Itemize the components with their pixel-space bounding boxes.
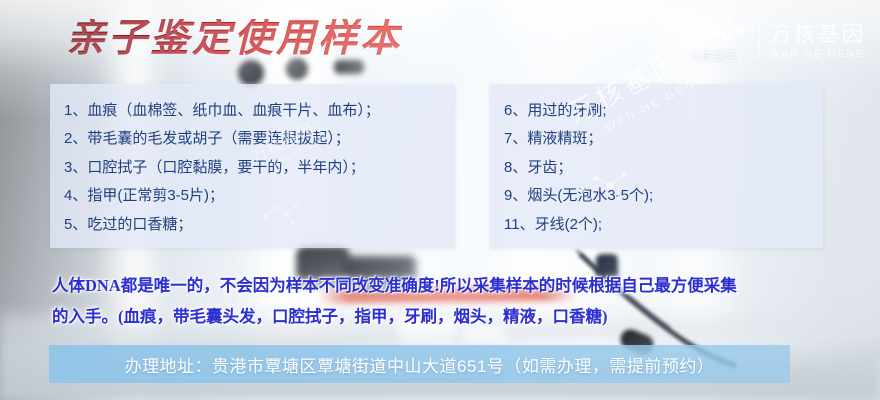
brand-divider xyxy=(759,19,760,59)
list-item: 11、牙线(2个); xyxy=(504,211,823,239)
microscope-eyepiece-1 xyxy=(238,60,264,86)
list-item: 6、用过的牙刷; xyxy=(504,97,823,125)
brand-mark: 万核基因 xyxy=(677,14,749,64)
list-item: 7、精液精斑； xyxy=(504,125,823,153)
description-line-2: 的入手。(血痕，带毛囊头发，口腔拭子，指甲，牙刷，烟头，精液，口香糖) xyxy=(52,301,842,332)
description-line-1: 人体DNA都是唯一的，不会因为样本不同改变准确度!所以采集样本的时候根据自己最方… xyxy=(52,270,842,301)
list-item: 4、指甲(正常剪3-5片)； xyxy=(64,182,455,210)
sample-list-right: 6、用过的牙刷; 7、精液精斑； 8、牙齿； 9、烟头(无泡水3-5个); 11… xyxy=(490,84,823,239)
brand-logo: 万核基因 万核基因 WAN HE GENE xyxy=(677,8,866,70)
dna-molecule-icon xyxy=(677,14,749,46)
page-title: 亲子鉴定使用样本 xyxy=(66,19,402,58)
list-item: 5、吃过的口香糖； xyxy=(64,211,455,239)
brand-name-cn: 万核基因 xyxy=(689,48,737,64)
brand-wordmark-en: WAN HE GENE xyxy=(770,49,866,60)
list-item: 2、带毛囊的毛发或胡子（需要连根拔起）； xyxy=(64,125,455,153)
poster-canvas: 万核基因 万核基因 WAN HE GENE 亲子鉴定使用样本 1、血痕（血棉签、… xyxy=(0,0,880,400)
microscope-part xyxy=(334,60,364,74)
brand-wordmark-cn: 万核基因 xyxy=(770,18,866,48)
samples-panel-left: 1、血痕（血棉签、纸巾血、血痕干片、血布）； 2、带毛囊的毛发或胡子（需要连根拔… xyxy=(50,84,455,248)
list-item: 8、牙齿； xyxy=(504,154,823,182)
description-paragraph: 人体DNA都是唯一的，不会因为样本不同改变准确度!所以采集样本的时候根据自己最方… xyxy=(52,270,842,332)
list-item: 3、口腔拭子（口腔黏膜，要干的，半年内）； xyxy=(64,154,455,182)
address-bar: 办理地址：贵港市覃塘区覃塘街道中山大道651号（如需办理，需提前预约） xyxy=(49,345,790,383)
list-item: 1、血痕（血棉签、纸巾血、血痕干片、血布）； xyxy=(64,97,455,125)
list-item: 9、烟头(无泡水3-5个); xyxy=(504,182,823,210)
address-text: 办理地址：贵港市覃塘区覃塘街道中山大道651号（如需办理，需提前预约） xyxy=(125,352,715,377)
samples-panel-right: 6、用过的牙刷; 7、精液精斑； 8、牙齿； 9、烟头(无泡水3-5个); 11… xyxy=(490,84,823,248)
microscope-eyepiece-2 xyxy=(286,58,308,80)
brand-wordmark: 万核基因 WAN HE GENE xyxy=(770,18,866,60)
sample-list-left: 1、血痕（血棉签、纸巾血、血痕干片、血布）； 2、带毛囊的毛发或胡子（需要连根拔… xyxy=(50,84,455,239)
